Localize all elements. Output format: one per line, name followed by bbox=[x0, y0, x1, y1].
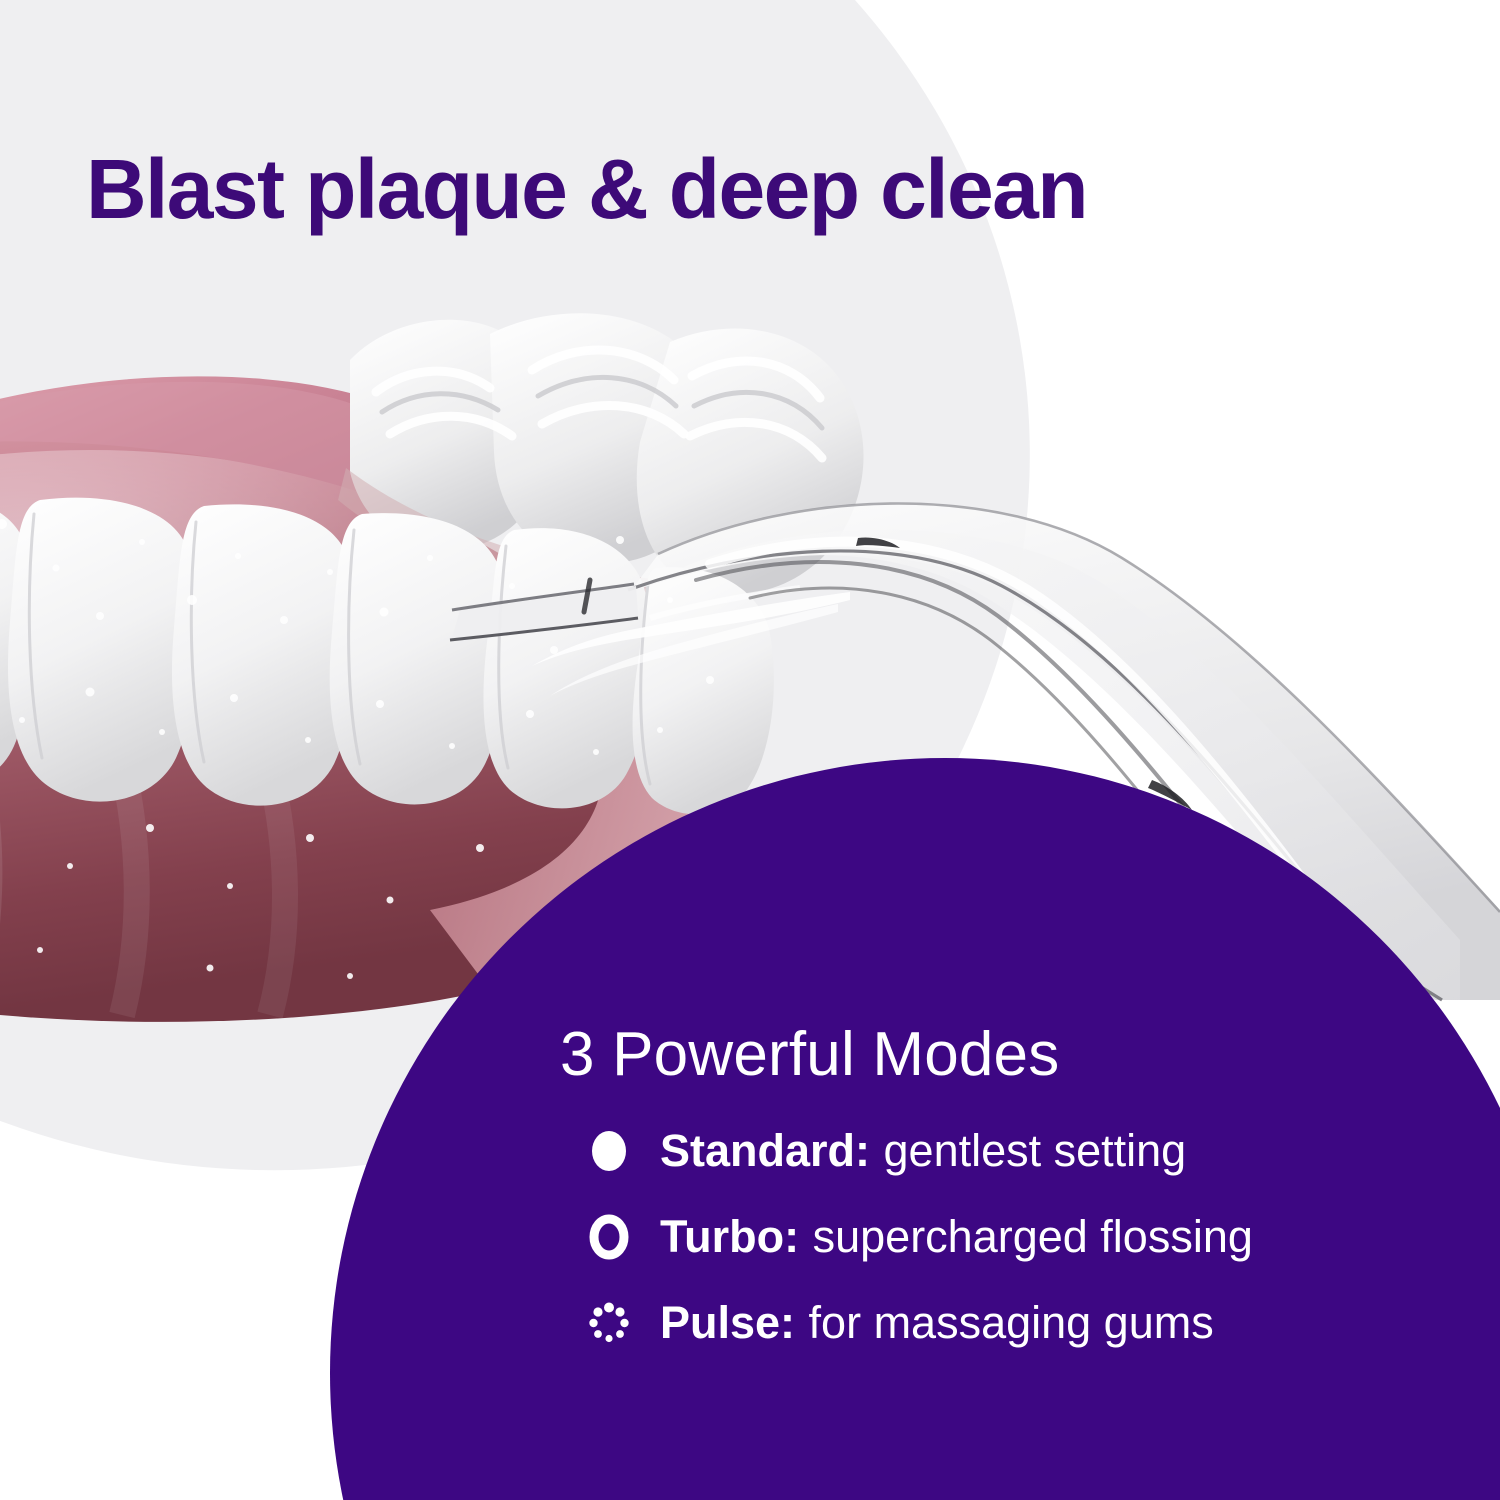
promo-image: Blast plaque & deep clean 3 Powerful Mod… bbox=[0, 0, 1500, 1500]
mode-label-turbo: Turbo: bbox=[660, 1211, 799, 1263]
mode-desc-turbo: supercharged flossing bbox=[813, 1211, 1253, 1263]
ring-circle-icon bbox=[586, 1214, 632, 1260]
dotted-ring-pulse-icon bbox=[586, 1300, 632, 1346]
mode-item-turbo: Turbo: supercharged flossing bbox=[560, 1211, 1460, 1263]
panel-title: 3 Powerful Modes bbox=[560, 1020, 1460, 1089]
mode-label-standard: Standard: bbox=[660, 1125, 870, 1177]
mode-desc-standard: gentlest setting bbox=[884, 1125, 1187, 1177]
modes-panel: 3 Powerful Modes Standard: gentlest sett… bbox=[560, 1020, 1460, 1349]
filled-circle-icon bbox=[586, 1128, 632, 1174]
mode-desc-pulse: for massaging gums bbox=[809, 1297, 1214, 1349]
modes-list: Standard: gentlest setting Turbo: superc… bbox=[560, 1125, 1460, 1348]
mode-label-pulse: Pulse: bbox=[660, 1297, 795, 1349]
mode-item-standard: Standard: gentlest setting bbox=[560, 1125, 1460, 1177]
mode-item-pulse: Pulse: for massaging gums bbox=[560, 1297, 1460, 1349]
page-title: Blast plaque & deep clean bbox=[86, 144, 1446, 235]
